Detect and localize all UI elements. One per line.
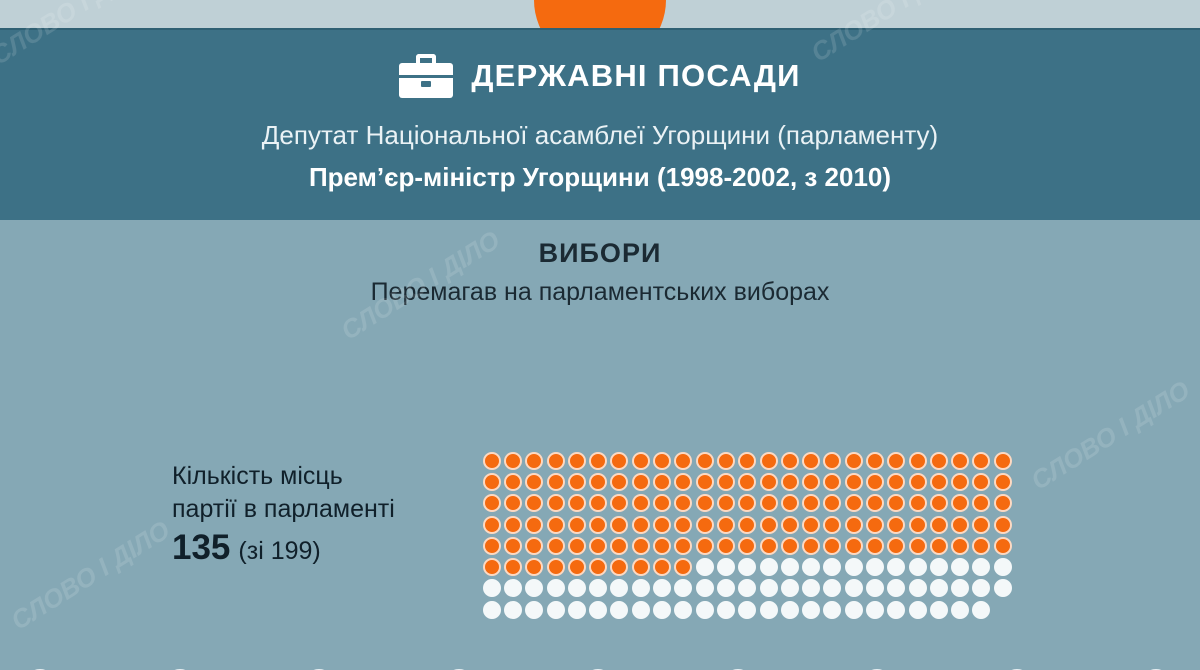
seat-filled bbox=[822, 493, 843, 514]
seat-filled bbox=[651, 493, 672, 514]
seat-filled bbox=[971, 450, 992, 471]
seat-filled bbox=[587, 493, 608, 514]
seat-empty bbox=[843, 556, 864, 577]
seat-filled bbox=[886, 535, 907, 556]
seat-filled bbox=[822, 514, 843, 535]
elections-section: ВИБОРИ Перемагав на парламентських вибор… bbox=[0, 238, 1200, 307]
seat-filled bbox=[737, 450, 758, 471]
seat-filled bbox=[864, 450, 885, 471]
seat-empty bbox=[907, 556, 928, 577]
seat-filled bbox=[864, 535, 885, 556]
seat-empty bbox=[715, 599, 736, 620]
seat-filled bbox=[822, 450, 843, 471]
seat-filled bbox=[651, 556, 672, 577]
seat-filled bbox=[800, 450, 821, 471]
seat-filled bbox=[694, 471, 715, 492]
seat-filled bbox=[928, 471, 949, 492]
seat-filled bbox=[502, 556, 523, 577]
seat-filled bbox=[630, 514, 651, 535]
seat-empty bbox=[566, 599, 587, 620]
seat-empty bbox=[800, 578, 821, 599]
seat-filled bbox=[758, 493, 779, 514]
seat-filled bbox=[630, 450, 651, 471]
seat-filled bbox=[630, 493, 651, 514]
header-title: ДЕРЖАВНІ ПОСАДИ bbox=[471, 58, 800, 94]
seat-filled bbox=[587, 556, 608, 577]
seat-filled bbox=[545, 450, 566, 471]
seat-filled bbox=[907, 450, 928, 471]
header-subtitle-1: Депутат Національної асамблеї Угорщини (… bbox=[262, 120, 938, 151]
seat-filled bbox=[928, 493, 949, 514]
seat-empty bbox=[737, 599, 758, 620]
seat-filled bbox=[587, 514, 608, 535]
elections-title: ВИБОРИ bbox=[0, 238, 1200, 269]
seat-filled bbox=[843, 450, 864, 471]
seat-empty bbox=[630, 578, 651, 599]
seat-filled bbox=[907, 514, 928, 535]
seat-filled bbox=[758, 535, 779, 556]
seat-empty bbox=[928, 599, 949, 620]
seat-empty bbox=[609, 578, 630, 599]
seat-empty bbox=[822, 556, 843, 577]
seat-filled bbox=[545, 535, 566, 556]
seat-filled bbox=[566, 471, 587, 492]
seat-empty bbox=[673, 578, 694, 599]
seat-filled bbox=[843, 535, 864, 556]
seat-filled bbox=[950, 514, 971, 535]
seat-filled bbox=[673, 471, 694, 492]
seat-empty bbox=[992, 578, 1013, 599]
seat-filled bbox=[566, 535, 587, 556]
seat-empty bbox=[566, 578, 587, 599]
seat-filled bbox=[779, 471, 800, 492]
seat-filled bbox=[587, 471, 608, 492]
seat-filled bbox=[587, 450, 608, 471]
seat-filled bbox=[886, 514, 907, 535]
seat-filled bbox=[502, 493, 523, 514]
seat-filled bbox=[651, 450, 672, 471]
seat-filled bbox=[950, 471, 971, 492]
seat-filled bbox=[545, 514, 566, 535]
seat-empty bbox=[481, 599, 502, 620]
seats-section: Кількість місць партії в парламенті 135 … bbox=[0, 440, 1200, 640]
seats-caption: Кількість місць партії в парламенті 135 … bbox=[172, 460, 472, 568]
seat-empty bbox=[651, 578, 672, 599]
elections-subtitle: Перемагав на парламентських виборах bbox=[0, 278, 1200, 307]
seat-filled bbox=[651, 514, 672, 535]
seat-filled bbox=[843, 471, 864, 492]
seat-filled bbox=[481, 556, 502, 577]
seat-filled bbox=[481, 471, 502, 492]
seat-empty bbox=[694, 599, 715, 620]
seat-filled bbox=[843, 514, 864, 535]
seat-empty bbox=[758, 599, 779, 620]
seat-filled bbox=[651, 535, 672, 556]
seat-filled bbox=[758, 514, 779, 535]
seat-filled bbox=[864, 471, 885, 492]
seat-filled bbox=[950, 450, 971, 471]
seat-filled bbox=[673, 535, 694, 556]
seat-filled bbox=[779, 493, 800, 514]
seat-filled bbox=[992, 450, 1013, 471]
seat-filled bbox=[971, 535, 992, 556]
seat-filled bbox=[630, 535, 651, 556]
seats-caption-line-1: Кількість місць bbox=[172, 460, 472, 493]
seat-empty bbox=[609, 599, 630, 620]
seat-empty bbox=[843, 578, 864, 599]
seat-empty bbox=[694, 556, 715, 577]
seat-filled bbox=[737, 514, 758, 535]
seat-filled bbox=[822, 471, 843, 492]
seat-filled bbox=[609, 535, 630, 556]
seat-filled bbox=[992, 535, 1013, 556]
seat-filled bbox=[800, 514, 821, 535]
seat-filled bbox=[715, 535, 736, 556]
seat-empty bbox=[800, 556, 821, 577]
seat-empty bbox=[864, 599, 885, 620]
seat-empty bbox=[524, 599, 545, 620]
seat-empty bbox=[545, 578, 566, 599]
seat-empty bbox=[545, 599, 566, 620]
seat-filled bbox=[502, 535, 523, 556]
seat-filled bbox=[545, 556, 566, 577]
seat-filled bbox=[502, 471, 523, 492]
seat-filled bbox=[715, 450, 736, 471]
seat-empty bbox=[928, 578, 949, 599]
seat-filled bbox=[864, 514, 885, 535]
seat-filled bbox=[673, 450, 694, 471]
seat-filled bbox=[524, 535, 545, 556]
seat-filled bbox=[524, 471, 545, 492]
seat-filled bbox=[630, 556, 651, 577]
seat-empty bbox=[928, 556, 949, 577]
seat-empty bbox=[715, 578, 736, 599]
seats-caption-line-2: партії в парламенті bbox=[172, 493, 472, 526]
seat-empty bbox=[864, 556, 885, 577]
seat-empty bbox=[758, 578, 779, 599]
header-subtitle-2: Прем’єр-міністр Угорщини (1998-2002, з 2… bbox=[309, 162, 891, 193]
seat-empty bbox=[886, 599, 907, 620]
seat-empty bbox=[950, 556, 971, 577]
seat-filled bbox=[609, 514, 630, 535]
seat-filled bbox=[673, 514, 694, 535]
seat-empty bbox=[822, 599, 843, 620]
seats-dot-grid bbox=[481, 450, 1013, 620]
seat-filled bbox=[907, 535, 928, 556]
seat-empty bbox=[886, 578, 907, 599]
seat-empty bbox=[502, 578, 523, 599]
seat-filled bbox=[950, 535, 971, 556]
seat-filled bbox=[715, 514, 736, 535]
seat-filled bbox=[524, 450, 545, 471]
seat-empty bbox=[758, 556, 779, 577]
seat-filled bbox=[822, 535, 843, 556]
seat-empty bbox=[843, 599, 864, 620]
seat-filled bbox=[587, 535, 608, 556]
briefcase-icon bbox=[399, 54, 453, 98]
seat-filled bbox=[800, 535, 821, 556]
seat-filled bbox=[524, 514, 545, 535]
seat-empty bbox=[481, 578, 502, 599]
seat-filled bbox=[694, 450, 715, 471]
seat-filled bbox=[609, 493, 630, 514]
seat-filled bbox=[779, 535, 800, 556]
seat-filled bbox=[566, 556, 587, 577]
seat-filled bbox=[651, 471, 672, 492]
seat-filled bbox=[907, 471, 928, 492]
header-band: ДЕРЖАВНІ ПОСАДИ Депутат Національної аса… bbox=[0, 30, 1200, 220]
seat-filled bbox=[566, 493, 587, 514]
seat-empty bbox=[907, 578, 928, 599]
seat-filled bbox=[886, 471, 907, 492]
seat-empty bbox=[673, 599, 694, 620]
seat-filled bbox=[694, 514, 715, 535]
seat-filled bbox=[545, 493, 566, 514]
seat-filled bbox=[992, 514, 1013, 535]
seat-filled bbox=[928, 535, 949, 556]
seat-filled bbox=[481, 535, 502, 556]
seat-filled bbox=[673, 556, 694, 577]
seat-filled bbox=[737, 493, 758, 514]
seat-filled bbox=[779, 450, 800, 471]
seat-filled bbox=[992, 493, 1013, 514]
seat-placeholder bbox=[992, 599, 1013, 620]
seat-filled bbox=[971, 493, 992, 514]
seat-filled bbox=[950, 493, 971, 514]
seat-empty bbox=[992, 556, 1013, 577]
seat-filled bbox=[673, 493, 694, 514]
seat-empty bbox=[971, 578, 992, 599]
seat-empty bbox=[502, 599, 523, 620]
seat-filled bbox=[481, 450, 502, 471]
seat-filled bbox=[886, 493, 907, 514]
seat-filled bbox=[566, 450, 587, 471]
election-timeline: 199019941998200220062010201420182022 bbox=[0, 330, 1200, 420]
seat-empty bbox=[651, 599, 672, 620]
seat-filled bbox=[864, 493, 885, 514]
seat-empty bbox=[950, 578, 971, 599]
seat-empty bbox=[800, 599, 821, 620]
seat-filled bbox=[800, 493, 821, 514]
seat-empty bbox=[630, 599, 651, 620]
seats-count: 135 bbox=[172, 528, 230, 568]
seat-empty bbox=[779, 556, 800, 577]
seat-filled bbox=[524, 493, 545, 514]
seat-empty bbox=[587, 599, 608, 620]
seat-filled bbox=[928, 514, 949, 535]
seat-filled bbox=[630, 471, 651, 492]
seat-filled bbox=[545, 471, 566, 492]
seat-filled bbox=[694, 535, 715, 556]
seat-empty bbox=[587, 578, 608, 599]
seat-filled bbox=[715, 471, 736, 492]
seat-empty bbox=[779, 578, 800, 599]
seat-empty bbox=[524, 578, 545, 599]
seat-filled bbox=[481, 514, 502, 535]
orange-circle-accent bbox=[534, 0, 666, 30]
seat-filled bbox=[502, 514, 523, 535]
seat-empty bbox=[907, 599, 928, 620]
top-strip bbox=[0, 0, 1200, 30]
seat-filled bbox=[843, 493, 864, 514]
seat-filled bbox=[502, 450, 523, 471]
seat-empty bbox=[886, 556, 907, 577]
seat-empty bbox=[864, 578, 885, 599]
seat-empty bbox=[694, 578, 715, 599]
seat-filled bbox=[481, 493, 502, 514]
seat-filled bbox=[737, 535, 758, 556]
seat-empty bbox=[737, 578, 758, 599]
seat-filled bbox=[694, 493, 715, 514]
seat-filled bbox=[715, 493, 736, 514]
seat-filled bbox=[758, 450, 779, 471]
seat-empty bbox=[822, 578, 843, 599]
seat-filled bbox=[971, 514, 992, 535]
seat-filled bbox=[800, 471, 821, 492]
seat-filled bbox=[992, 471, 1013, 492]
header-title-row: ДЕРЖАВНІ ПОСАДИ bbox=[399, 54, 800, 98]
seat-filled bbox=[928, 450, 949, 471]
seat-filled bbox=[779, 514, 800, 535]
seat-empty bbox=[950, 599, 971, 620]
seat-empty bbox=[971, 556, 992, 577]
seat-filled bbox=[566, 514, 587, 535]
seat-filled bbox=[524, 556, 545, 577]
seat-filled bbox=[907, 493, 928, 514]
seat-filled bbox=[609, 471, 630, 492]
seats-count-row: 135 (зі 199) bbox=[172, 528, 472, 568]
seat-filled bbox=[609, 450, 630, 471]
seat-filled bbox=[971, 471, 992, 492]
seat-filled bbox=[886, 450, 907, 471]
seat-empty bbox=[971, 599, 992, 620]
seats-total-label: (зі 199) bbox=[238, 537, 320, 566]
seat-filled bbox=[609, 556, 630, 577]
seat-filled bbox=[758, 471, 779, 492]
seat-empty bbox=[715, 556, 736, 577]
seat-empty bbox=[737, 556, 758, 577]
seat-empty bbox=[779, 599, 800, 620]
seat-filled bbox=[737, 471, 758, 492]
